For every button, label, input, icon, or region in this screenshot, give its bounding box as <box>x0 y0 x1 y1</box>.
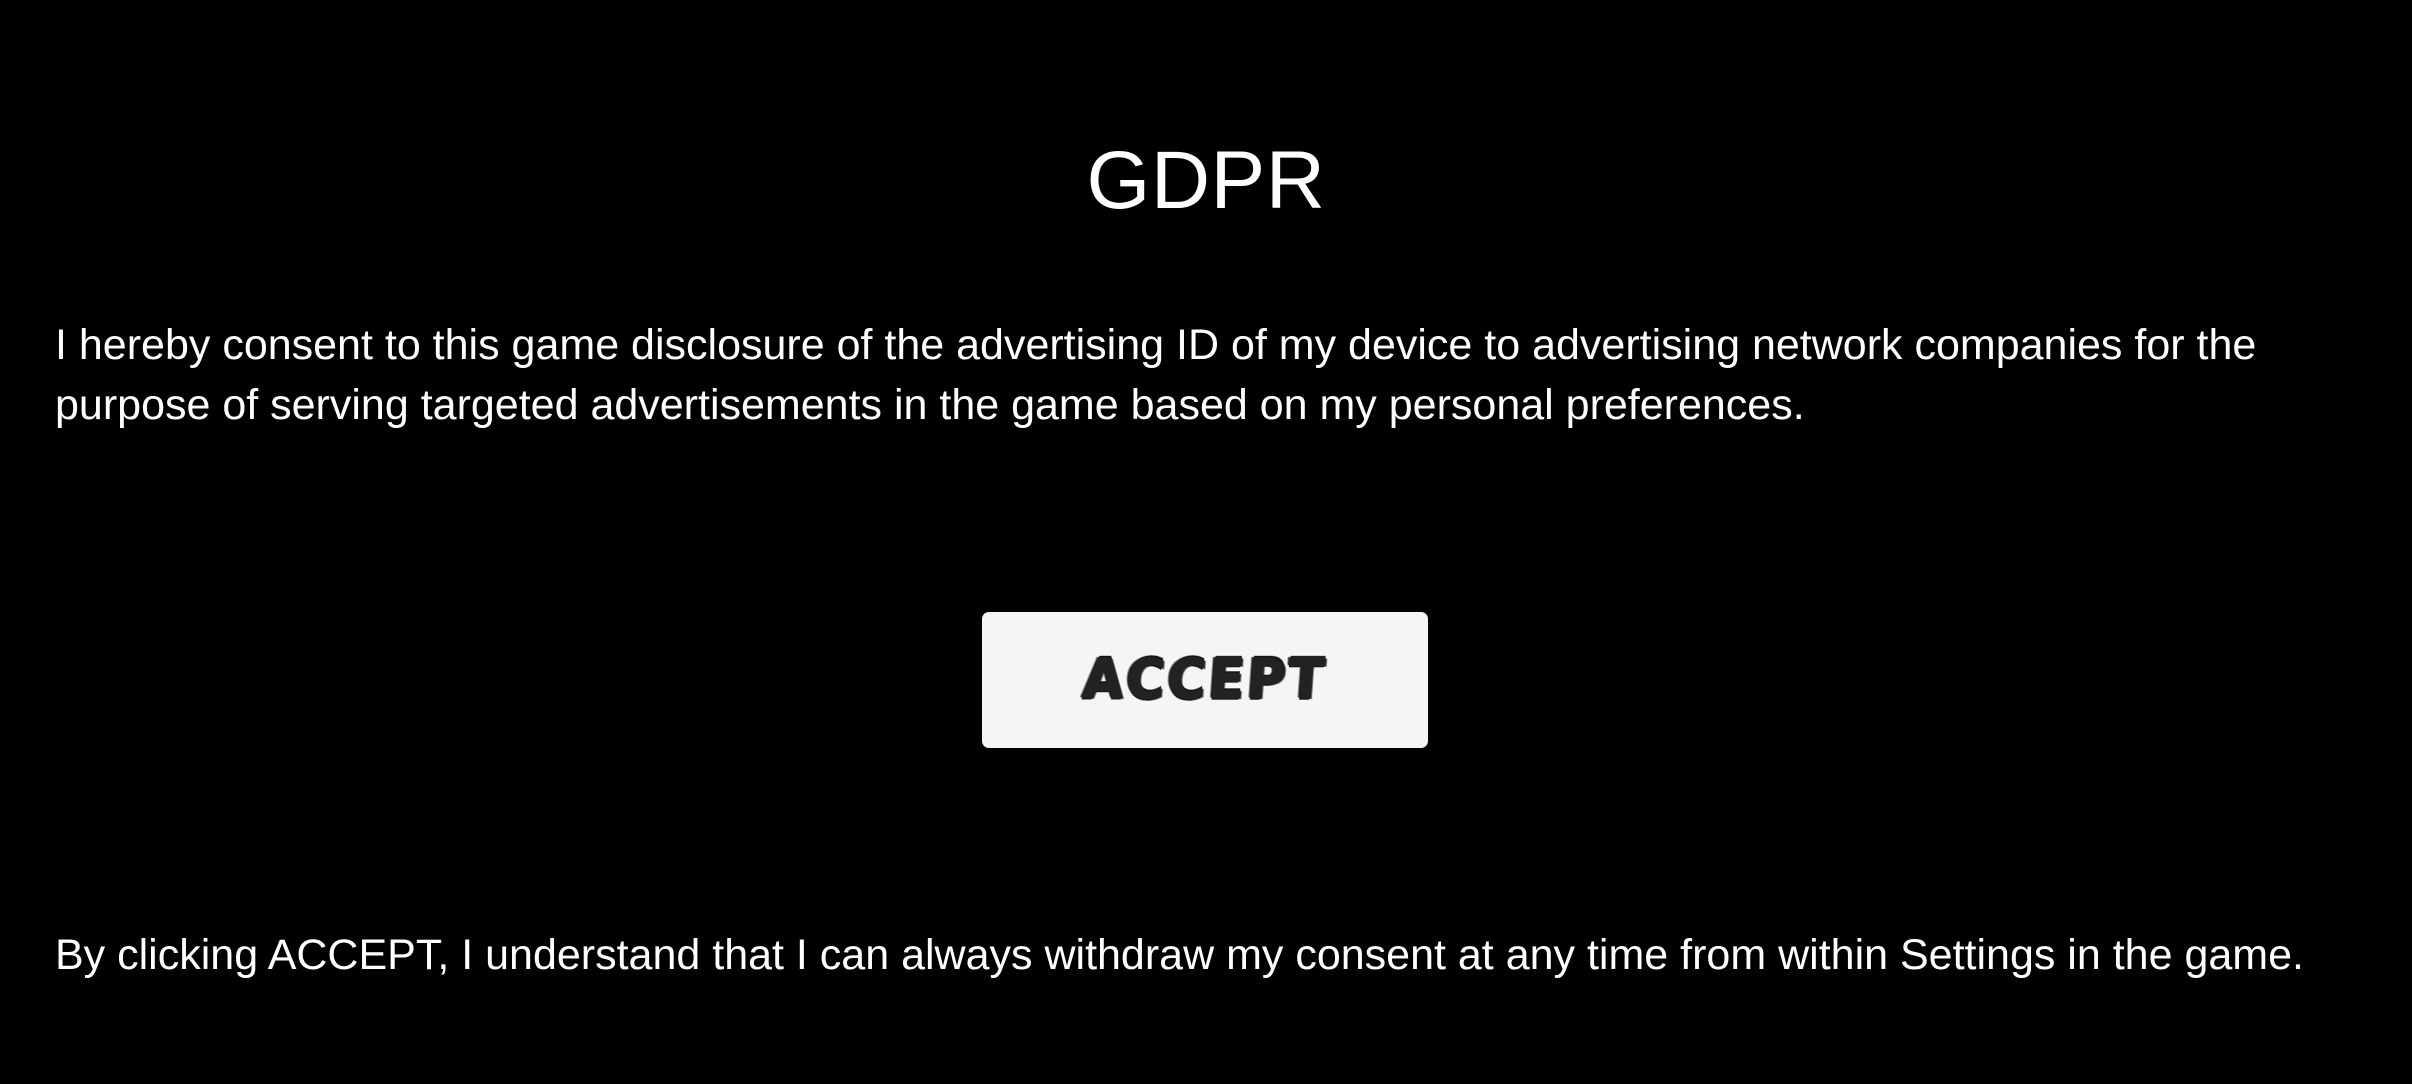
accept-button[interactable]: ACCEPT <box>982 612 1428 748</box>
withdraw-consent-text: By clicking ACCEPT, I understand that I … <box>55 925 2315 985</box>
page-title: GDPR <box>0 133 2412 229</box>
accept-button-label: ACCEPT <box>1081 650 1329 709</box>
consent-disclosure-text: I hereby consent to this game disclosure… <box>55 315 2315 435</box>
gdpr-consent-screen: GDPR I hereby consent to this game discl… <box>0 0 2412 1084</box>
